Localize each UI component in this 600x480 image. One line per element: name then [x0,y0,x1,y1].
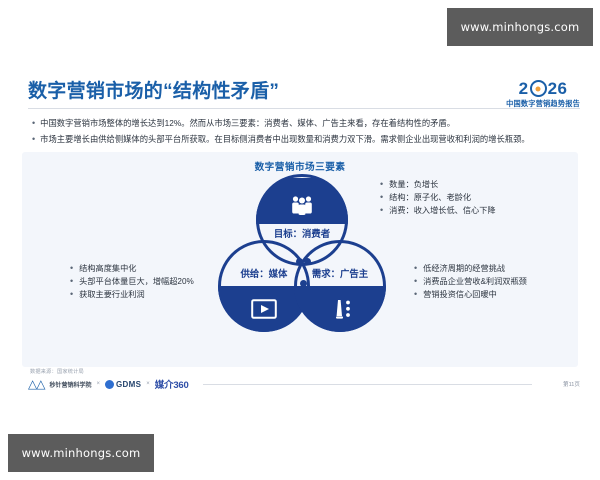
list-item-label: 低经济周期的经营挑战 [423,262,505,275]
slide-footer: 数据来源：国家统计局 △△ 秒针营销科学院 × GDMS × 媒介360 第11… [8,368,592,396]
ring-dot-icon [530,80,547,97]
bullet-dot-icon: • [380,204,383,217]
page-title: 数字营销市场的“结构性矛盾” [28,76,279,103]
list-item: • 头部平台体量巨大，增幅超20% [70,275,194,288]
people-icon [256,188,348,222]
list-item: • 获取主要行业利润 [70,288,194,301]
list-item-label: 结构高度集中化 [79,262,136,275]
list-item-label: 营销投资信心回暖中 [423,288,497,301]
mj360-logo-label: 媒介360 [155,377,189,391]
list-advertiser: • 低经济周期的经营挑战 • 消费品企业营收&利润双瓶颈 • 营销投资信心回暖中 [414,262,527,301]
bullet-dot-icon: • [414,288,417,301]
bullet-dot-icon: • [70,288,73,301]
lead-bullet-item: • 中国数字营销市场整体的增长达到12%。然而从市场三要素：消费者、媒体、广告主… [32,116,578,130]
venn-connector-dot [304,258,311,265]
header-divider [28,108,580,109]
megaphone-icon [294,292,386,326]
slide-container: 数字营销市场的“结构性矛盾” 2 26 中国数字营销趋势报告 • 中国数字营销市… [8,66,592,396]
brand-year-suffix: 26 [548,80,568,97]
watermark-bottom-text: www.minhongs.com [22,446,141,460]
footer-logo-group: △△ 秒针营销科学院 × GDMS × 媒介360 [28,377,189,391]
watermark-top-text: www.minhongs.com [461,20,580,34]
list-item-label: 头部平台体量巨大，增幅超20% [79,275,194,288]
mountain-logo-icon: △△ [28,377,44,391]
logo-separator: × [146,381,150,387]
bullet-dot-icon: • [32,132,35,146]
list-item: • 消费品企业营收&利润双瓶颈 [414,275,527,288]
source-note: 数据来源：国家统计局 [30,368,84,375]
list-item: • 结构高度集中化 [70,262,194,275]
lead-bullet-text: 市场主要增长由供给侧媒体的头部平台所获取。在目标侧消费者中出现数量和消费力双下滑… [40,132,530,146]
lead-bullet-list: • 中国数字营销市场整体的增长达到12%。然而从市场三要素：消费者、媒体、广告主… [32,116,578,148]
list-item-label: 消费：收入增长低、信心下降 [389,204,495,217]
bullet-dot-icon: • [380,178,383,191]
list-item-label: 获取主要行业利润 [79,288,145,301]
lead-bullet-text: 中国数字营销市场整体的增长达到12%。然而从市场三要素：消费者、媒体、广告主来看… [40,116,455,130]
list-item-label: 消费品企业营收&利润双瓶颈 [423,275,527,288]
list-media: • 结构高度集中化 • 头部平台体量巨大，增幅超20% • 获取主要行业利润 [70,262,194,301]
list-item-label: 结构：原子化、老龄化 [389,191,471,204]
bullet-dot-icon: • [70,262,73,275]
slide-header: 数字营销市场的“结构性矛盾” 2 26 中国数字营销趋势报告 [8,66,592,110]
list-item: • 数量：负增长 [380,178,496,191]
footer-divider [203,384,532,385]
list-item-label: 数量：负增长 [389,178,438,191]
diagram-title: 数字营销市场三要素 [22,159,578,173]
list-consumer: • 数量：负增长 • 结构：原子化、老龄化 • 消费：收入增长低、信心下降 [380,178,496,217]
bullet-dot-icon: • [414,262,417,275]
globe-icon [105,380,114,389]
list-item: • 消费：收入增长低、信心下降 [380,204,496,217]
brand-year: 2 26 [506,80,580,97]
watermark-bottom: www.minhongs.com [8,434,154,472]
brand-subtitle: 中国数字营销趋势报告 [506,100,580,107]
venn-connector-dot [296,258,303,265]
venn-connector-dot [300,280,307,287]
gdms-logo: GDMS [105,380,141,389]
partner-logo-label: 秒针营销科学院 [49,380,91,389]
gdms-label: GDMS [116,380,141,389]
bullet-dot-icon: • [414,275,417,288]
bullet-dot-icon: • [380,191,383,204]
list-item: • 营销投资信心回暖中 [414,288,527,301]
list-item: • 结构：原子化、老龄化 [380,191,496,204]
bullet-dot-icon: • [70,275,73,288]
venn-diagram: 目标：消费者 供给：媒体 需求：广告主 [218,174,386,339]
bullet-dot-icon: • [32,116,35,130]
diagram-panel: 数字营销市场三要素 [22,152,578,367]
logo-separator: × [96,381,100,387]
lead-bullet-item: • 市场主要增长由供给侧媒体的头部平台所获取。在目标侧消费者中出现数量和消费力双… [32,132,578,146]
brand-year-prefix: 2 [519,80,529,97]
brand-logo: 2 26 中国数字营销趋势报告 [506,80,580,107]
page-number: 第11页 [563,380,580,388]
list-item: • 低经济周期的经营挑战 [414,262,527,275]
watermark-top: www.minhongs.com [447,8,593,46]
venn-label-advertiser: 需求：广告主 [286,266,394,280]
venn-label-consumer: 目标：消费者 [256,226,348,240]
